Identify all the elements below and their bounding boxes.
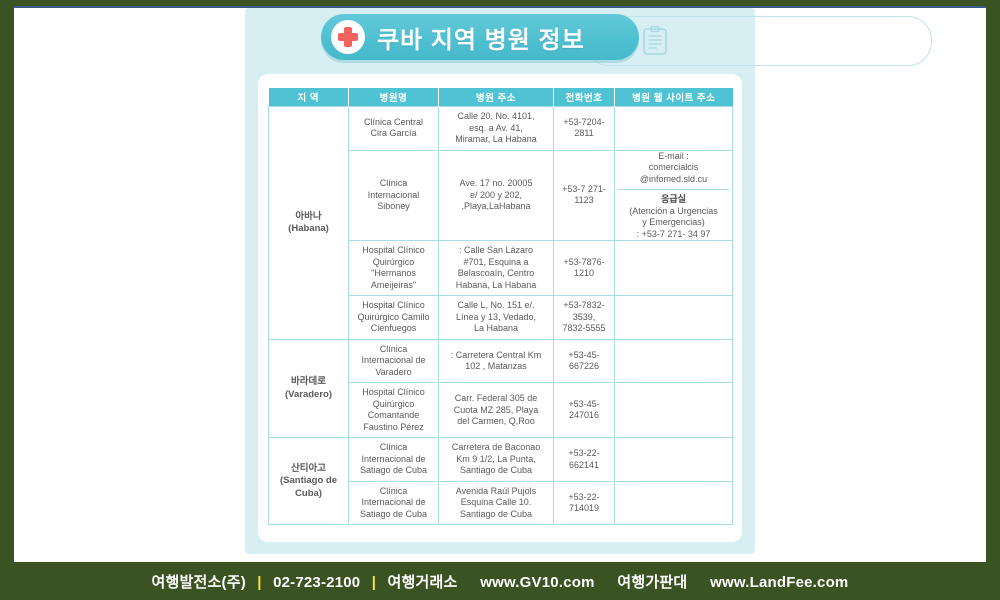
- table-row: 산티아고(Santiago deCuba)ClínicaInternaciona…: [269, 438, 733, 482]
- footer-brand-2: 여행가판대: [617, 574, 687, 591]
- hospital-phone-cell: +53-7876-1210: [554, 241, 615, 296]
- hospital-phone-cell: +53-7832-3539,7832-5555: [554, 296, 615, 340]
- hospital-address-cell: : Carretera Central Km102 , Matanzas: [439, 339, 554, 383]
- hospital-phone-cell: +53-22-662141: [554, 438, 615, 482]
- screenshot-root: 쿠바 지역 병원 정보 지 역 병원명 병원 주소 전화번호 병원 웹 사이트 …: [0, 0, 1000, 600]
- footer-separator-2: |: [372, 574, 376, 591]
- hospital-name-cell: Hospital ClínicoQuirúrgico CamiloCienfue…: [349, 296, 439, 340]
- hospital-name-cell: Clínica CentralCira García: [349, 107, 439, 151]
- emergency-title: 응급실: [661, 194, 686, 204]
- hospital-website-cell: [615, 339, 733, 383]
- red-cross-icon: [331, 20, 365, 54]
- hospital-table: 지 역 병원명 병원 주소 전화번호 병원 웹 사이트 주소 아바나(Haban…: [268, 88, 733, 525]
- footer-text: 여행발전소(주) | 02-723-2100 | 여행거래소 www.GV10.…: [152, 571, 849, 592]
- hospital-phone-cell: +53-45-247016: [554, 383, 615, 438]
- hospital-phone-cell: +53-7 271-1123: [554, 150, 615, 241]
- col-header-name: 병원명: [349, 88, 439, 107]
- table-row: 아바나(Habana)Clínica CentralCira GarcíaCal…: [269, 107, 733, 151]
- hospital-website-cell: [615, 241, 733, 296]
- hospital-address-cell: Avenida Raúl PujolsEsquina Calle 10.Sant…: [439, 481, 554, 525]
- footer-company: 여행발전소(주): [152, 574, 246, 591]
- col-header-phone: 전화번호: [554, 88, 615, 107]
- page-title-pill: 쿠바 지역 병원 정보: [321, 14, 639, 60]
- footer-url-2[interactable]: www.LandFee.com: [710, 574, 848, 591]
- hospital-address-cell: Calle 20, No. 4101,esq. a Av. 41,Miramar…: [439, 107, 554, 151]
- hospital-name-cell: ClínicaInternacional deSatiago de Cuba: [349, 481, 439, 525]
- hospital-name-cell: ClínicaInternacionalSiboney: [349, 150, 439, 241]
- hospital-address-cell: Carretera de BaconaoKm 9 1/2, La Punta,S…: [439, 438, 554, 482]
- title-area: 쿠바 지역 병원 정보: [245, 8, 755, 70]
- hospital-address-cell: : Calle San Lázaro#701, Esquina aBelasco…: [439, 241, 554, 296]
- table-body: 아바나(Habana)Clínica CentralCira GarcíaCal…: [269, 107, 733, 525]
- table-card: 지 역 병원명 병원 주소 전화번호 병원 웹 사이트 주소 아바나(Haban…: [258, 74, 742, 542]
- clipboard-icon: [642, 26, 668, 56]
- hospital-website-cell: E-mail :comercialcis@infomed.sld.cu응급실(A…: [615, 150, 733, 241]
- table-row: 바라데로(Varadero)ClínicaInternacional deVar…: [269, 339, 733, 383]
- col-header-address: 병원 주소: [439, 88, 554, 107]
- hospital-website-cell: [615, 383, 733, 438]
- footer-bar: 여행발전소(주) | 02-723-2100 | 여행거래소 www.GV10.…: [0, 562, 1000, 600]
- hospital-address-cell: Calle L, No. 151 e/.Línea y 13, Vedado,L…: [439, 296, 554, 340]
- hospital-phone-cell: +53-22-714019: [554, 481, 615, 525]
- hospital-phone-cell: +53-7204-2811: [554, 107, 615, 151]
- hospital-website-cell: [615, 107, 733, 151]
- table-header-row: 지 역 병원명 병원 주소 전화번호 병원 웹 사이트 주소: [269, 88, 733, 107]
- region-cell: 산티아고(Santiago deCuba): [269, 438, 349, 525]
- hospital-website-cell: [615, 296, 733, 340]
- col-header-region: 지 역: [269, 88, 349, 107]
- hospital-phone-cell: +53-45-667226: [554, 339, 615, 383]
- col-header-website: 병원 웹 사이트 주소: [615, 88, 733, 107]
- region-cell: 바라데로(Varadero): [269, 339, 349, 438]
- page-title: 쿠바 지역 병원 정보: [377, 20, 585, 55]
- hospital-name-cell: ClínicaInternacional deSatiago de Cuba: [349, 438, 439, 482]
- website-email-subcell: E-mail :comercialcis@infomed.sld.cu: [618, 151, 729, 191]
- footer-separator-1: |: [257, 574, 261, 591]
- hospital-address-cell: Carr. Federal 305 deCuota MZ 285, Playad…: [439, 383, 554, 438]
- footer-url-1[interactable]: www.GV10.com: [480, 574, 594, 591]
- hospital-name-cell: Hospital ClínicoQuirúrgicoComantandeFaus…: [349, 383, 439, 438]
- hospital-name-cell: ClínicaInternacional deVaradero: [349, 339, 439, 383]
- hospital-name-cell: Hospital ClínicoQuirúrgico"HermanosAmeij…: [349, 241, 439, 296]
- footer-phone: 02-723-2100: [273, 574, 360, 591]
- hospital-website-cell: [615, 481, 733, 525]
- hospital-address-cell: Ave. 17 no. 20005e/ 200 y 202,,Playa,LaH…: [439, 150, 554, 241]
- website-emergency-subcell: 응급실(Atención a Urgenciasy Emergencias): …: [618, 190, 729, 240]
- region-cell: 아바나(Habana): [269, 107, 349, 340]
- hospital-website-cell: [615, 438, 733, 482]
- footer-brand-1: 여행거래소: [388, 574, 458, 591]
